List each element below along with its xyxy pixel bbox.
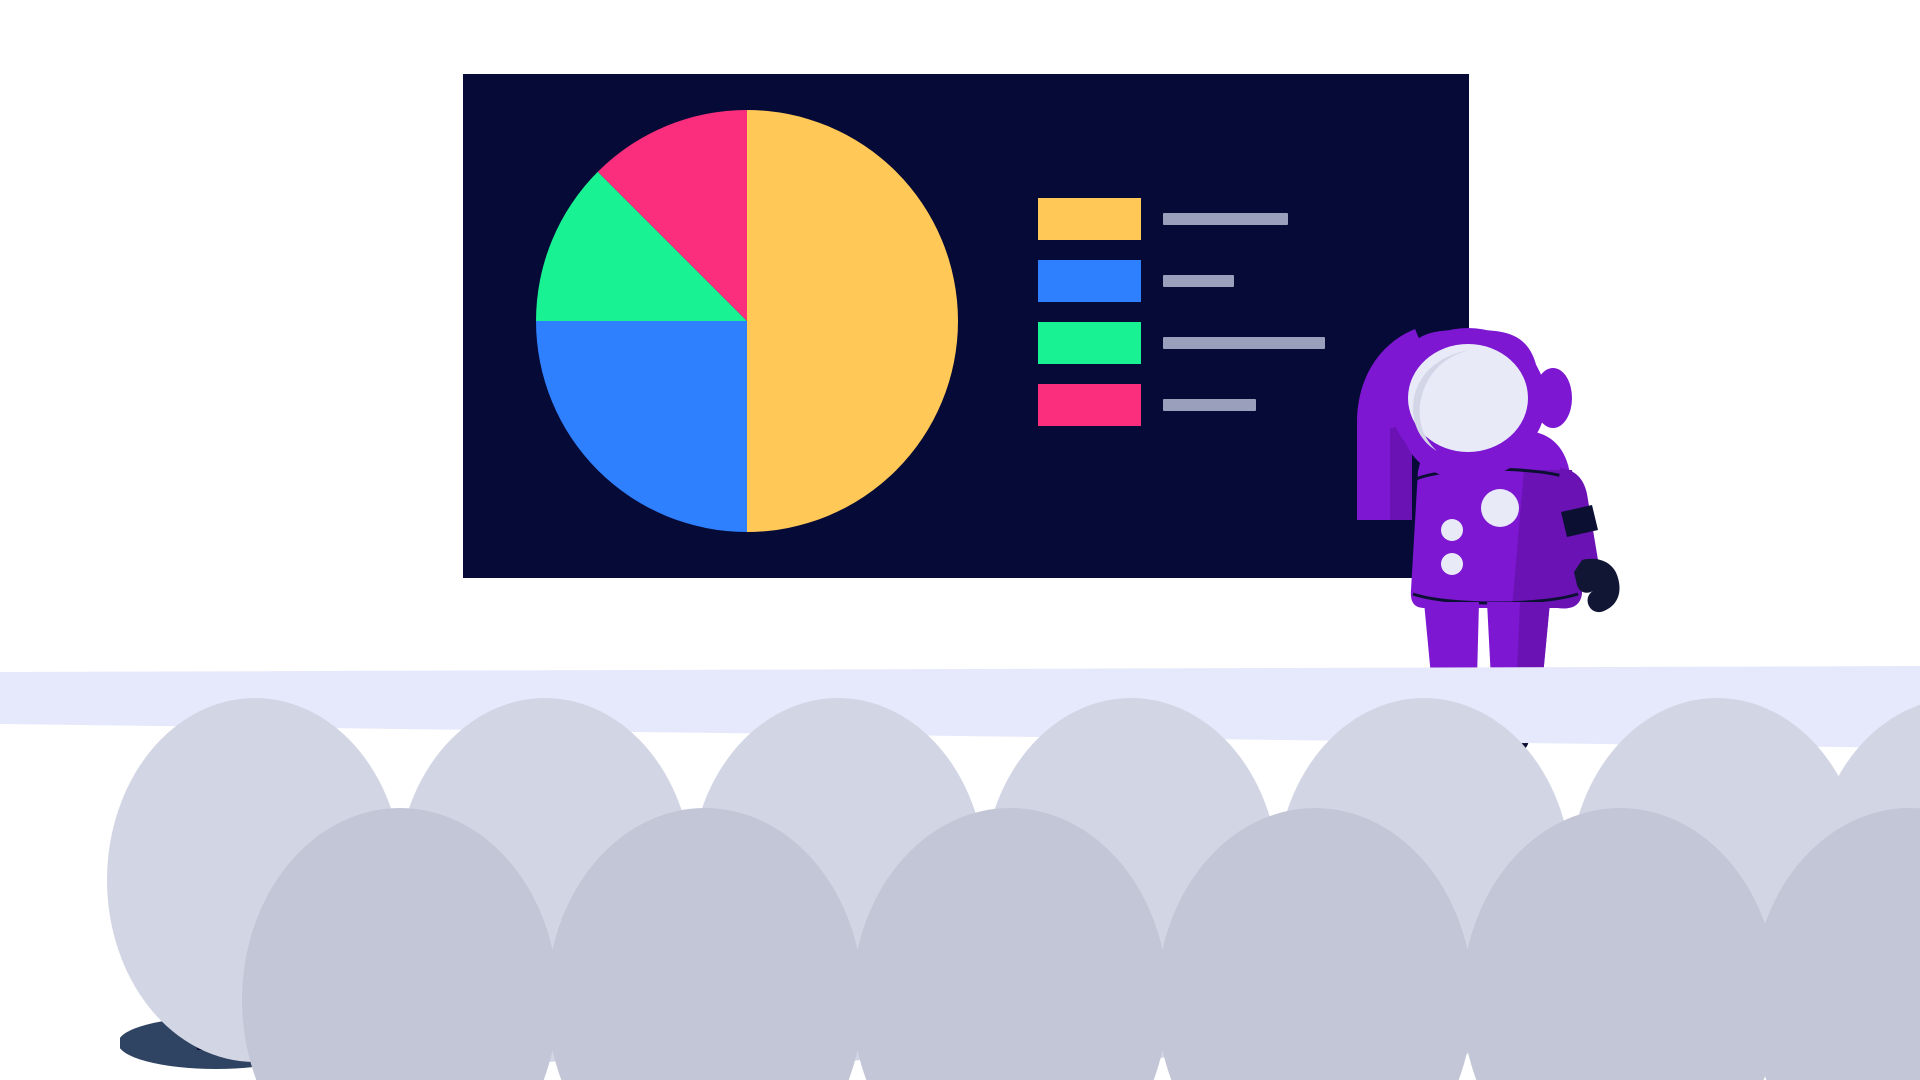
legend-swatch-green xyxy=(1038,322,1141,364)
legend-label-yellow xyxy=(1163,213,1288,225)
astronaut-badge-small-upper-icon xyxy=(1441,519,1463,541)
pie-chart xyxy=(536,110,958,532)
legend-label-blue xyxy=(1163,275,1234,287)
scene-canvas xyxy=(0,0,1920,1080)
legend-label-green xyxy=(1163,337,1325,349)
audience-front-row xyxy=(242,808,1920,1080)
astronaut-badge-large-icon xyxy=(1481,489,1519,527)
legend-swatch-blue xyxy=(1038,260,1141,302)
astronaut-badge-small-lower-icon xyxy=(1441,553,1463,575)
legend-swatch-pink xyxy=(1038,384,1141,426)
presentation-board-group xyxy=(463,74,1469,578)
illustration-scene: Astronaut presenting a pie chart to an a… xyxy=(0,0,1920,1080)
astronaut-visor xyxy=(1408,344,1528,452)
legend-label-pink xyxy=(1163,399,1256,411)
legend-swatch-yellow xyxy=(1038,198,1141,240)
